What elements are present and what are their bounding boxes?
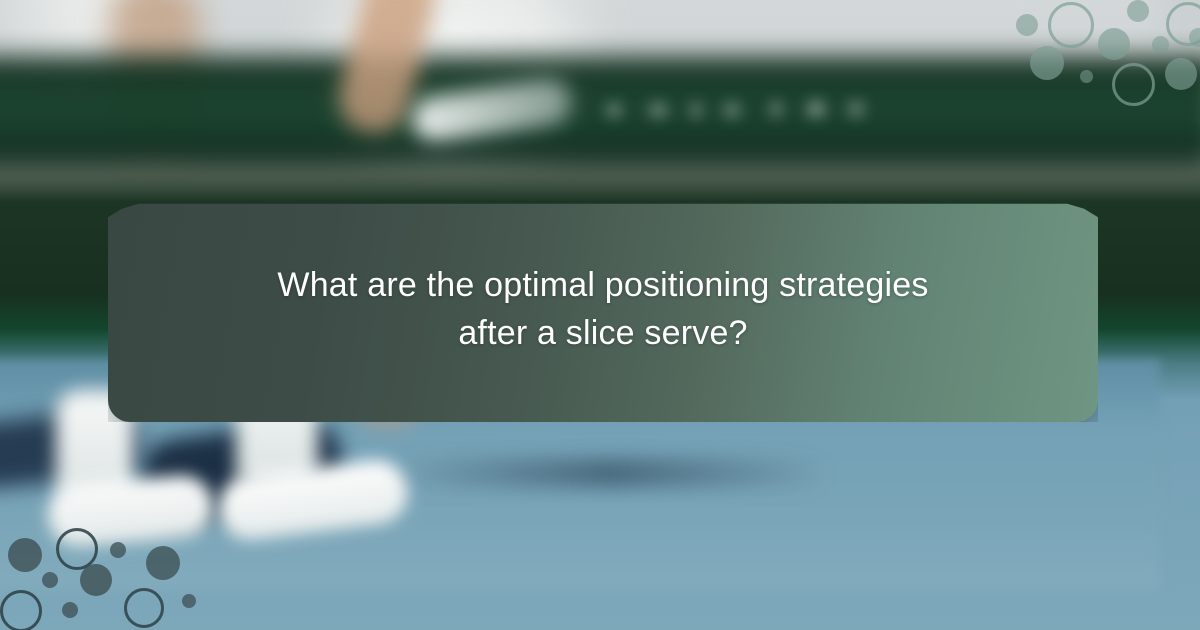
decorative-bubble	[1098, 28, 1130, 60]
decorative-bubble	[146, 546, 180, 580]
sponsor-banner-text	[600, 88, 890, 134]
decorative-bubble	[182, 594, 196, 608]
decorative-bubble	[1112, 63, 1155, 106]
bubble-cluster-top-right	[1000, 0, 1200, 110]
court-line-marking	[390, 458, 830, 488]
question-card-body: What are the optimal positioning strateg…	[108, 262, 1098, 357]
decorative-bubble	[1048, 2, 1094, 48]
decorative-bubble	[124, 588, 164, 628]
poster-canvas: What are the optimal positioning strateg…	[0, 0, 1200, 630]
decorative-bubble	[62, 602, 78, 618]
decorative-bubble	[42, 572, 58, 588]
decorative-bubble	[1165, 58, 1197, 90]
question-headline-line-1: What are the optimal positioning strateg…	[277, 266, 928, 304]
decorative-bubble	[1127, 0, 1149, 22]
decorative-bubble	[1016, 14, 1038, 36]
decorative-bubble	[110, 542, 126, 558]
decorative-bubble	[80, 564, 112, 596]
question-headline: What are the optimal positioning strateg…	[162, 262, 1044, 357]
question-headline-line-2: after a slice serve?	[162, 310, 1044, 358]
decorative-bubble	[8, 538, 42, 572]
decorative-bubble	[1080, 70, 1093, 83]
decorative-bubble	[1030, 46, 1064, 80]
decorative-bubble	[0, 590, 42, 630]
question-card: What are the optimal positioning strateg…	[108, 197, 1098, 422]
banner-shadow	[0, 146, 1200, 172]
decorative-bubble	[1152, 36, 1169, 53]
bubble-cluster-bottom-left	[0, 510, 210, 630]
